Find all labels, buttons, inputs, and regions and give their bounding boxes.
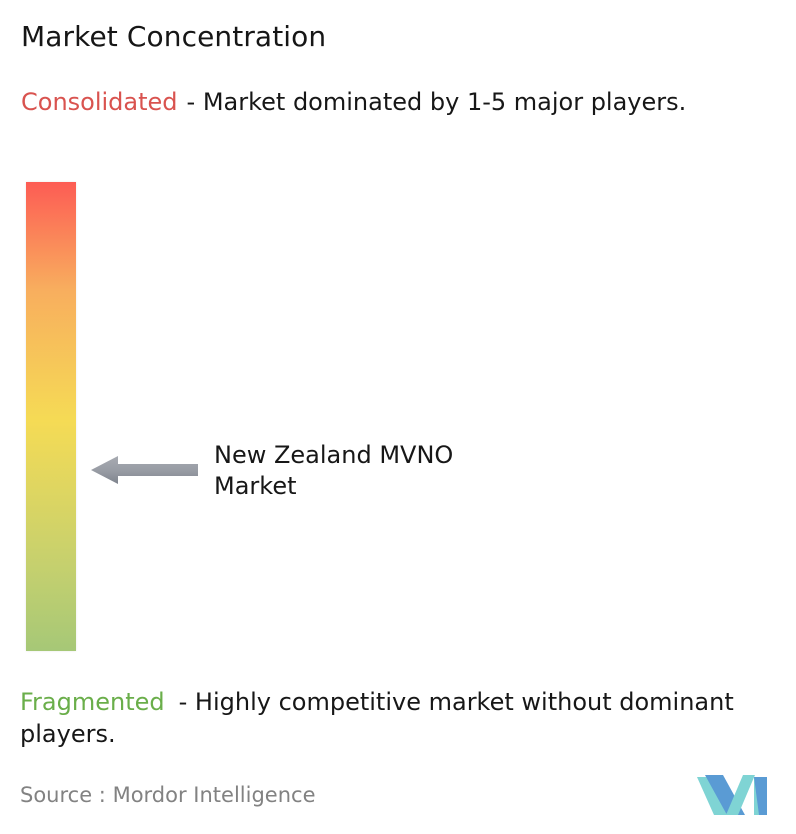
source-label: Source : <box>20 783 106 807</box>
consolidated-description: - Market dominated by 1-5 major players. <box>187 88 687 116</box>
consolidated-label: Consolidated <box>21 88 178 116</box>
fragmented-legend-line: Fragmented- Highly competitive market wi… <box>20 686 790 750</box>
market-position-label-line2: Market <box>214 471 554 502</box>
source-line: Source : Mordor Intelligence <box>20 782 315 808</box>
consolidated-legend-line: Consolidated- Market dominated by 1-5 ma… <box>21 86 777 118</box>
market-concentration-gradient-bar <box>26 182 76 651</box>
page-title: Market Concentration <box>21 20 326 54</box>
market-position-label: New Zealand MVNO Market <box>214 440 554 502</box>
left-arrow-icon <box>91 455 198 485</box>
fragmented-label: Fragmented <box>20 688 165 716</box>
market-position-arrow <box>91 455 198 485</box>
market-position-label-line1: New Zealand MVNO <box>214 440 554 471</box>
mi-monogram-icon <box>697 771 775 816</box>
mordor-intelligence-logo <box>697 771 775 816</box>
source-value: Mordor Intelligence <box>113 783 316 807</box>
